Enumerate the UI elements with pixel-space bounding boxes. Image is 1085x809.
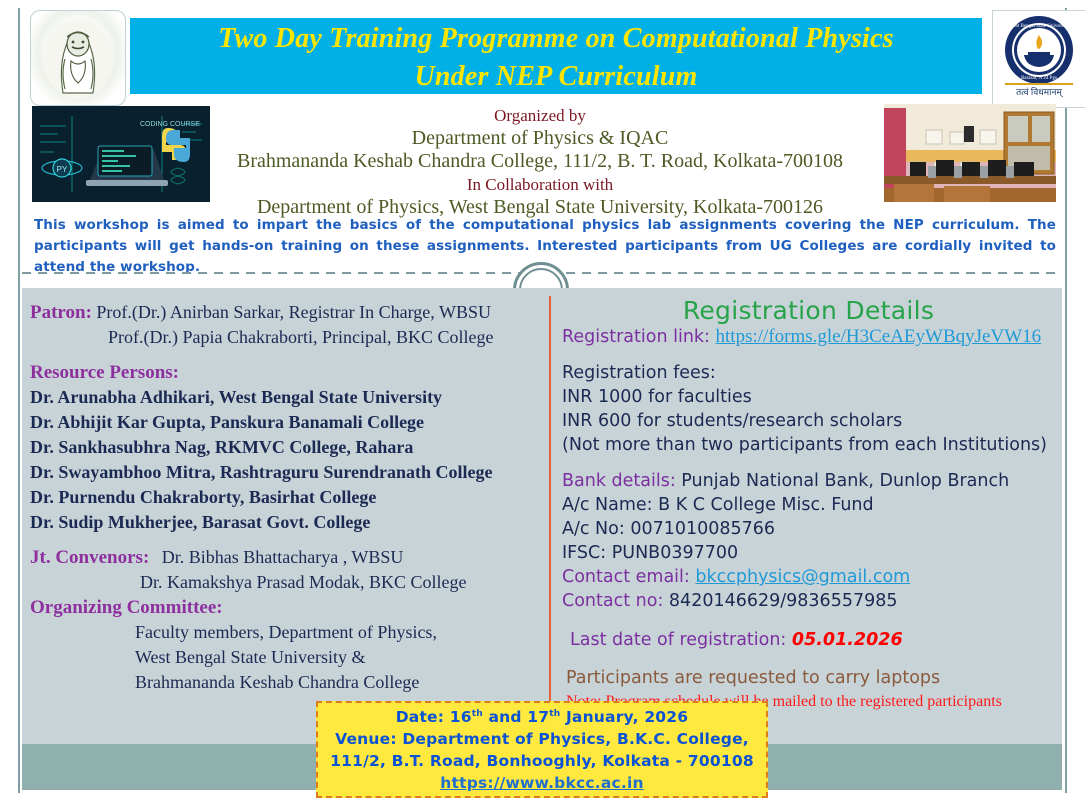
title-line-1: Two Day Training Programme on Computatio… [130, 18, 982, 56]
laptop-notice: Participants are requested to carry lapt… [556, 665, 1061, 691]
collaboration-label: In Collaboration with [210, 173, 870, 196]
convenors-row: Jt. Convenors: Dr. Bibhas Bhattacharya ,… [30, 545, 545, 570]
patron-row: Patron: Prof.(Dr.) Anirban Sarkar, Regis… [30, 300, 545, 325]
python-coding-illustration: PY CODING COURSE [32, 106, 210, 202]
college-website-link[interactable]: https://www.bkcc.ac.in [440, 774, 644, 792]
convenor-name-1: Dr. Bibhas Bhattacharya , WBSU [154, 547, 404, 567]
account-number-value: 0071010085766 [630, 519, 775, 539]
svg-text:PY: PY [57, 165, 68, 174]
sanskrit-motto: तत्वं विधमानम् [993, 85, 1085, 98]
account-name-row: A/c Name: B K C College Misc. Fund [556, 493, 1061, 517]
date-suffix: January, 2026 [560, 708, 688, 726]
resource-person-item: Dr. Abhijit Kar Gupta, Panskura Banamali… [30, 410, 545, 435]
svg-text:CODING COURSE: CODING COURSE [140, 121, 200, 128]
title-line-2: Under NEP Curriculum [130, 56, 982, 94]
organizing-committee-label: Organizing Committee: [30, 597, 223, 618]
resource-person-item: Dr. Swayambhoo Mitra, Rashtraguru Surend… [30, 460, 545, 485]
account-number-row: A/c No: 0071010085766 [556, 517, 1061, 541]
date-middle: and 17 [483, 708, 549, 726]
university-seal-icon: West Bengal State University Barasat, N … [1004, 15, 1074, 85]
organizer-college: Brahmananda Keshab Chandra College, 111/… [210, 150, 870, 173]
committee-line: Brahmananda Keshab Chandra College [30, 670, 545, 695]
wbsu-logo: West Bengal State University Barasat, N … [992, 10, 1085, 108]
date-prefix: Date: 16 [396, 708, 472, 726]
poster-root: Two Day Training Programme on Computatio… [0, 0, 1085, 809]
ifsc-value: PUNB0397700 [612, 543, 738, 563]
committee-heading: Organizing Committee: [30, 595, 545, 620]
patron-label: Patron: [30, 302, 92, 323]
resource-person-item: Dr. Purnendu Chakraborty, Basirhat Colle… [30, 485, 545, 510]
poster-header: Two Day Training Programme on Computatio… [20, 8, 1065, 104]
left-column: Patron: Prof.(Dr.) Anirban Sarkar, Regis… [30, 300, 545, 695]
venue-date-line: Date: 16th and 17th January, 2026 [318, 703, 766, 728]
fee-faculty: INR 1000 for faculties [556, 385, 1061, 409]
last-date-row: Last date of registration: 05.01.2026 [556, 627, 1061, 653]
committee-line: Faculty members, Department of Physics, [30, 620, 545, 645]
patron-name-1: Prof.(Dr.) Anirban Sarkar, Registrar In … [96, 302, 491, 322]
ifsc-row: IFSC: PUNB0397700 [556, 541, 1061, 565]
account-name-label: A/c Name: [562, 495, 653, 515]
resource-persons-label: Resource Persons: [30, 362, 179, 383]
date-ordinal-1: th [472, 709, 483, 719]
convenors-label: Jt. Convenors: [30, 547, 149, 568]
organized-by-block: Organized by Department of Physics & IQA… [210, 104, 870, 219]
resource-person-item: Dr. Sudip Mukherjee, Barasat Govt. Colle… [30, 510, 545, 535]
contact-phone-label: Contact no: [562, 591, 663, 611]
registration-link[interactable]: https://forms.gle/H3CeAEyWBqyJeVW16 [716, 326, 1042, 347]
last-date-value: 05.01.2026 [792, 630, 903, 650]
last-date-label: Last date of registration: [570, 630, 786, 650]
bank-details-label: Bank details: [562, 471, 676, 491]
contact-phone-row: Contact no: 8420146629/9836557985 [556, 589, 1061, 613]
resource-person-item: Dr. Sankhasubhra Nag, RKMVC College, Rah… [30, 435, 545, 460]
contact-email-link[interactable]: bkccphysics@gmail.com [695, 567, 910, 587]
frame-border-left [18, 8, 20, 793]
resource-persons-heading: Resource Persons: [30, 360, 545, 385]
contact-email-label: Contact email: [562, 567, 690, 587]
fee-participant-note: (Not more than two participants from eac… [556, 433, 1061, 457]
portrait-engraving-icon [39, 15, 117, 101]
venue-box: Date: 16th and 17th January, 2026 Venue:… [316, 701, 768, 798]
svg-text:West Bengal State University: West Bengal State University [1010, 24, 1069, 29]
account-number-label: A/c No: [562, 519, 625, 539]
svg-text:Barasat, N 24 Pgs: Barasat, N 24 Pgs [1021, 76, 1057, 81]
contact-phone-value: 8420146629/9836557985 [669, 591, 898, 611]
right-column: Registration Details Registration link: … [556, 296, 1061, 712]
fee-student: INR 600 for students/research scholars [556, 409, 1061, 433]
contact-email-row: Contact email: bkccphysics@gmail.com [556, 565, 1061, 589]
registration-link-row: Registration link: https://forms.gle/H3C… [556, 325, 1061, 349]
convenor-name-2: Dr. Kamakshya Prasad Modak, BKC College [30, 570, 545, 595]
venue-website-row: https://www.bkcc.ac.in [318, 772, 766, 794]
venue-line-1: Venue: Department of Physics, B.K.C. Col… [318, 728, 766, 750]
bank-details-value: Punjab National Bank, Dunlop Branch [681, 471, 1009, 491]
bank-details-row: Bank details: Punjab National Bank, Dunl… [556, 469, 1061, 493]
computer-lab-photo [884, 104, 1056, 202]
title-banner: Two Day Training Programme on Computatio… [130, 18, 982, 94]
registration-details-title: Registration Details [556, 296, 1061, 325]
date-ordinal-2: th [549, 709, 560, 719]
registration-link-label: Registration link: [562, 327, 710, 347]
account-name-value: B K C College Misc. Fund [658, 495, 873, 515]
column-divider [549, 296, 551, 736]
committee-line: West Bengal State University & [30, 645, 545, 670]
patron-name-2: Prof.(Dr.) Papia Chakraborti, Principal,… [30, 325, 545, 350]
venue-line-2: 111/2, B.T. Road, Bonhooghly, Kolkata - … [318, 750, 766, 772]
registration-fees-label: Registration fees: [556, 361, 1061, 385]
resource-person-item: Dr. Arunabha Adhikari, West Bengal State… [30, 385, 545, 410]
bkc-college-logo [30, 10, 126, 106]
frame-border-right [1065, 8, 1067, 793]
organizer-department: Department of Physics & IQAC [210, 127, 870, 150]
organized-by-label: Organized by [210, 104, 870, 127]
ifsc-label: IFSC: [562, 543, 606, 563]
